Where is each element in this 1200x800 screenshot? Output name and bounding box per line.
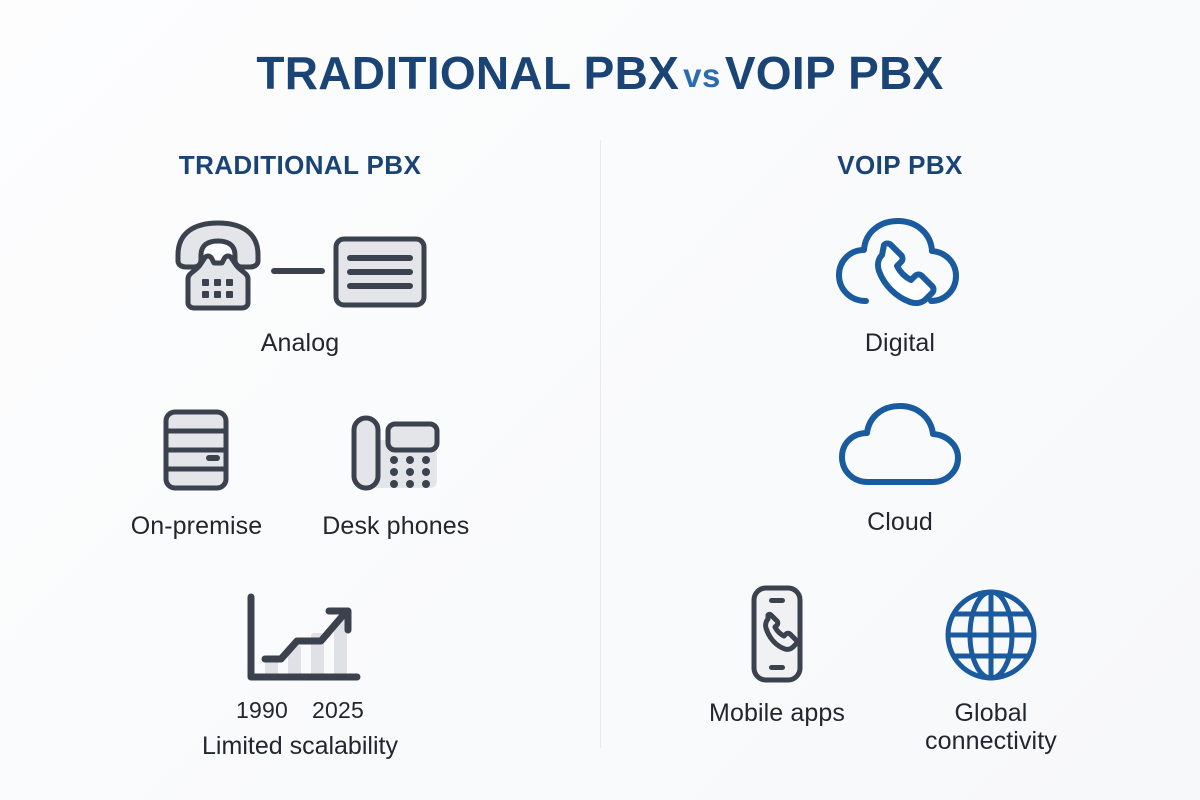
caption-cloud: Cloud (867, 508, 933, 537)
title-part-voip: VOIP PBX (725, 47, 944, 99)
item-global-connectivity: Global connectivity (891, 583, 1091, 757)
page-title: TRADITIONAL PBXvsVOIP PBX (0, 48, 1200, 99)
item-digital: Digital (830, 215, 970, 358)
column-divider (600, 140, 601, 748)
title-part-traditional: TRADITIONAL PBX (256, 47, 679, 99)
caption-mobile-apps: Mobile apps (709, 699, 845, 728)
item-on-premise: On-premise (131, 402, 263, 541)
item-mobile-apps: Mobile apps (709, 583, 845, 728)
column-voip-pbx: VOIP PBX Digital (620, 150, 1180, 756)
chart-year-labels: 19902025 (236, 697, 364, 724)
caption-global-connectivity: Global connectivity (891, 699, 1091, 757)
infographic-canvas: TRADITIONAL PBXvsVOIP PBX TRADITIONAL PB… (0, 0, 1200, 800)
globe-icon (943, 583, 1039, 685)
caption-digital: Digital (865, 329, 935, 358)
desk-phone-icon (342, 402, 450, 498)
row-traditional-scalability: 19902025 Limited scalability (20, 587, 580, 761)
bar-chart-growth-arrow-icon (235, 587, 365, 687)
item-desk-phones: Desk phones (322, 402, 469, 541)
analog-desk-phone-connected-to-switchboard-icon (150, 215, 450, 315)
year-end: 2025 (312, 697, 364, 724)
caption-on-premise: On-premise (131, 512, 263, 541)
row-voip-digital: Digital (620, 215, 1180, 358)
row-voip-access: Mobile apps Global co (620, 583, 1180, 757)
cloud-icon (835, 402, 965, 494)
item-analog: Analog (150, 215, 450, 358)
caption-desk-phones: Desk phones (322, 512, 469, 541)
cloud-phone-icon (830, 215, 970, 315)
item-cloud: Cloud (835, 402, 965, 537)
column-traditional-pbx: TRADITIONAL PBX (20, 150, 580, 760)
row-voip-cloud: Cloud (620, 402, 1180, 537)
caption-analog: Analog (261, 329, 339, 358)
column-heading-voip: VOIP PBX (620, 150, 1180, 181)
server-rack-icon (148, 402, 244, 498)
year-start: 1990 (236, 697, 288, 724)
mobile-phone-app-icon (740, 583, 814, 685)
row-traditional-analog: Analog (20, 215, 580, 358)
column-heading-traditional: TRADITIONAL PBX (20, 150, 580, 181)
row-traditional-infra: On-premise (20, 402, 580, 541)
caption-limited-scalability: Limited scalability (202, 732, 398, 761)
title-vs: vs (679, 57, 725, 94)
item-limited-scalability: 19902025 Limited scalability (202, 587, 398, 761)
